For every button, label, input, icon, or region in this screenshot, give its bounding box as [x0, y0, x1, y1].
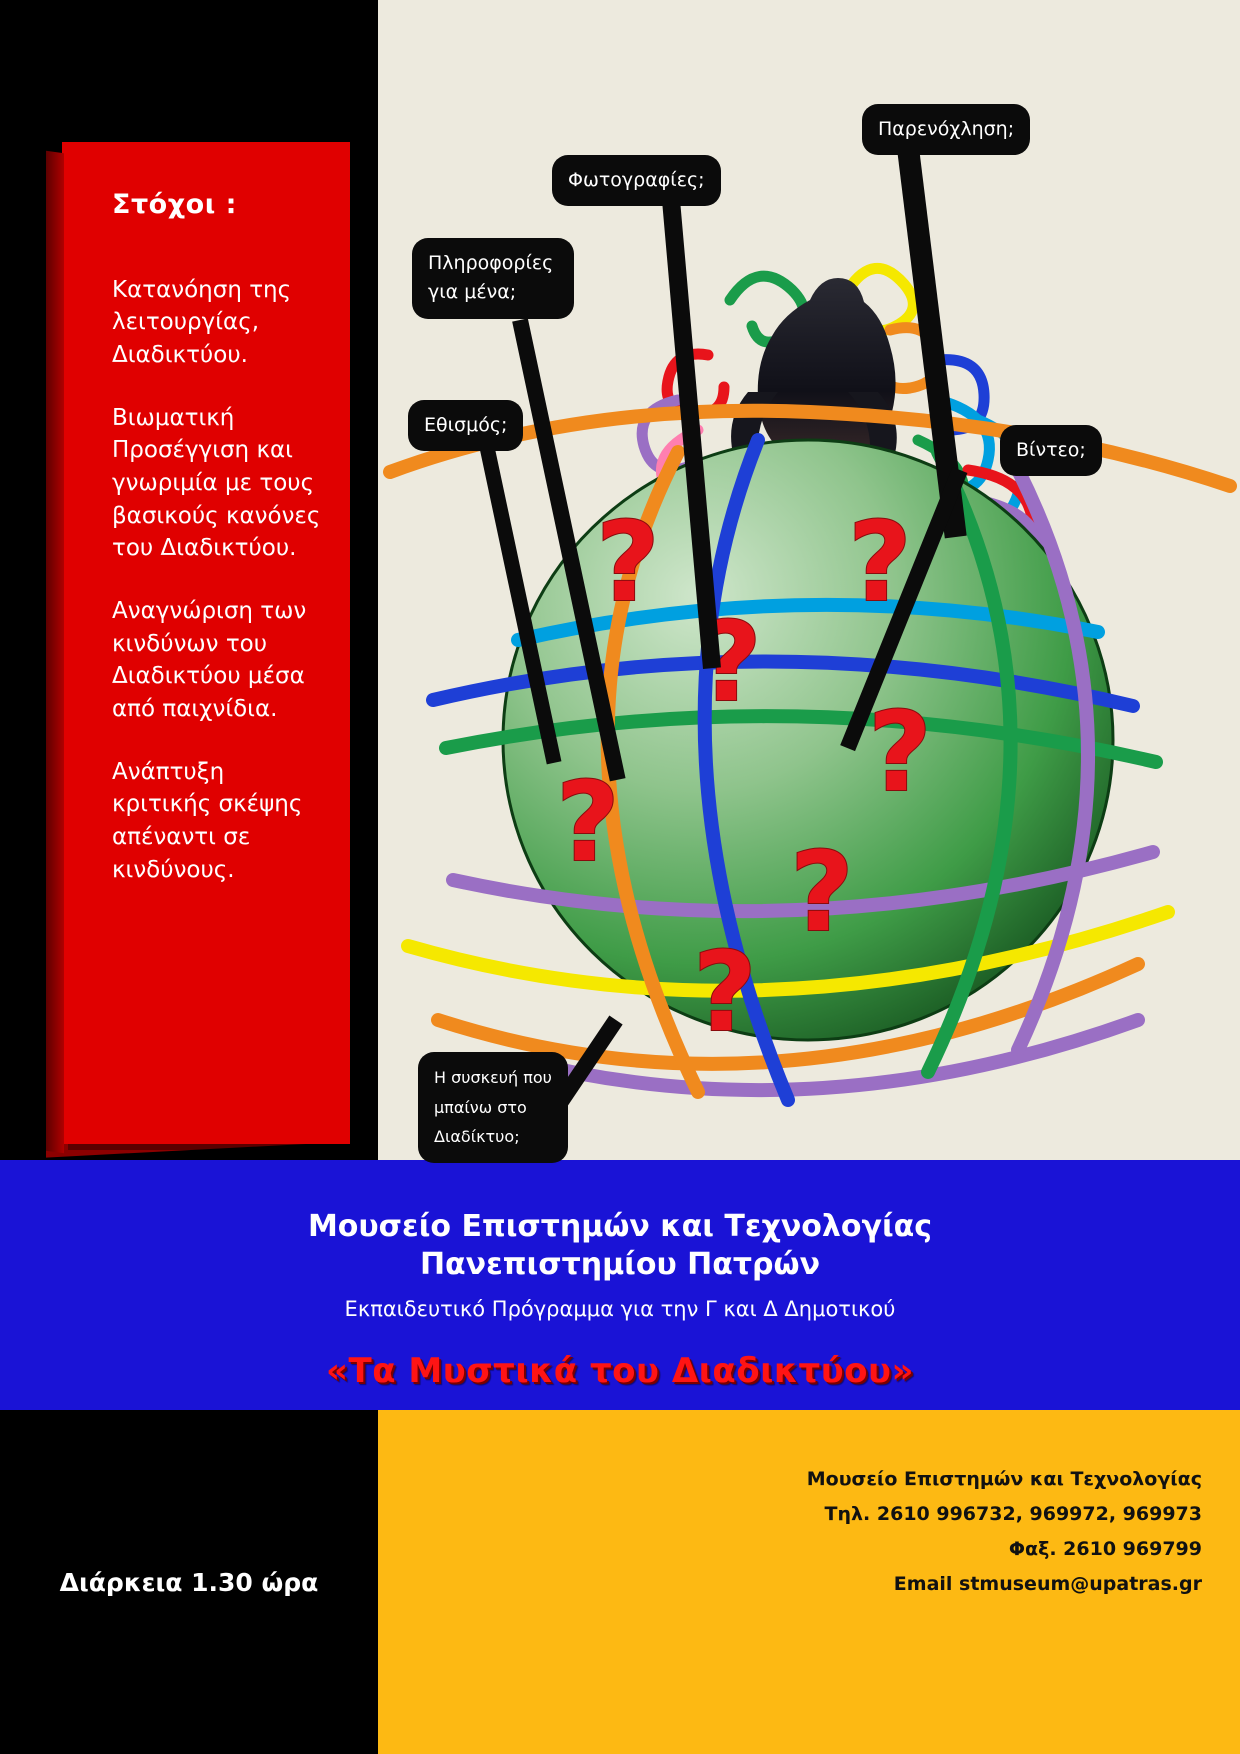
contact-line-museum: Μουσείο Επιστημών και Τεχνολογίας — [807, 1462, 1202, 1497]
contact-line-email[interactable]: Email stmuseum@upatras.gr — [807, 1567, 1202, 1602]
objective-item-1: Κατανόηση της λειτουργίας, Διαδικτύου. — [112, 274, 324, 372]
contact-line-fax: Φαξ. 2610 969799 — [807, 1532, 1202, 1567]
svg-text:?: ? — [868, 688, 932, 816]
bubble-photos[interactable]: Φωτογραφίες; — [552, 155, 721, 206]
bubble-device[interactable]: Η συσκευή που μπαίνω στο Διαδίκτυο; — [418, 1052, 568, 1163]
programme-title: «Τα Μυστικά του Διαδικτύου» — [0, 1351, 1240, 1391]
bubble-video[interactable]: Βίντεο; — [1000, 425, 1102, 476]
svg-text:?: ? — [693, 928, 757, 1056]
museum-blue-band: Μουσείο Επιστημών και Τεχνολογίας Πανεπι… — [0, 1160, 1240, 1410]
svg-text:?: ? — [790, 828, 854, 956]
museum-name-line2: Πανεπιστημίου Πατρών — [0, 1246, 1240, 1284]
objective-item-4: Ανάπτυξη κριτικής σκέψης απέναντι σε κιν… — [112, 756, 324, 887]
objective-item-2: Βιωματική Προσέγγιση και γνωριμία με του… — [112, 402, 324, 565]
poster-root: ? ? ? ? ? ? ? Παρενόχληση; Φωτογραφίες; … — [0, 0, 1240, 1754]
bubble-harassment[interactable]: Παρενόχληση; — [862, 104, 1030, 155]
objective-item-3: Αναγνώριση των κινδύνων του Διαδικτύου μ… — [112, 595, 324, 726]
programme-subtitle: Εκπαιδευτικό Πρόγραμμα για την Γ και Δ Δ… — [0, 1297, 1240, 1321]
contact-block: Μουσείο Επιστημών και Τεχνολογίας Τηλ. 2… — [807, 1462, 1202, 1603]
contact-line-phone: Τηλ. 2610 996732, 969972, 969973 — [807, 1497, 1202, 1532]
bubble-info[interactable]: Πληροφορίες για μένα; — [412, 238, 574, 319]
museum-name-line1: Μουσείο Επιστημών και Τεχνολογίας — [0, 1208, 1240, 1246]
objectives-title: Στόχοι : — [112, 190, 324, 220]
objectives-panel: Στόχοι : Κατανόηση της λειτουργίας, Διαδ… — [62, 142, 350, 1144]
bubble-addiction[interactable]: Εθισμός; — [408, 400, 523, 451]
svg-text:?: ? — [596, 498, 660, 626]
duration-label: Διάρκεια 1.30 ώρα — [0, 1410, 378, 1754]
